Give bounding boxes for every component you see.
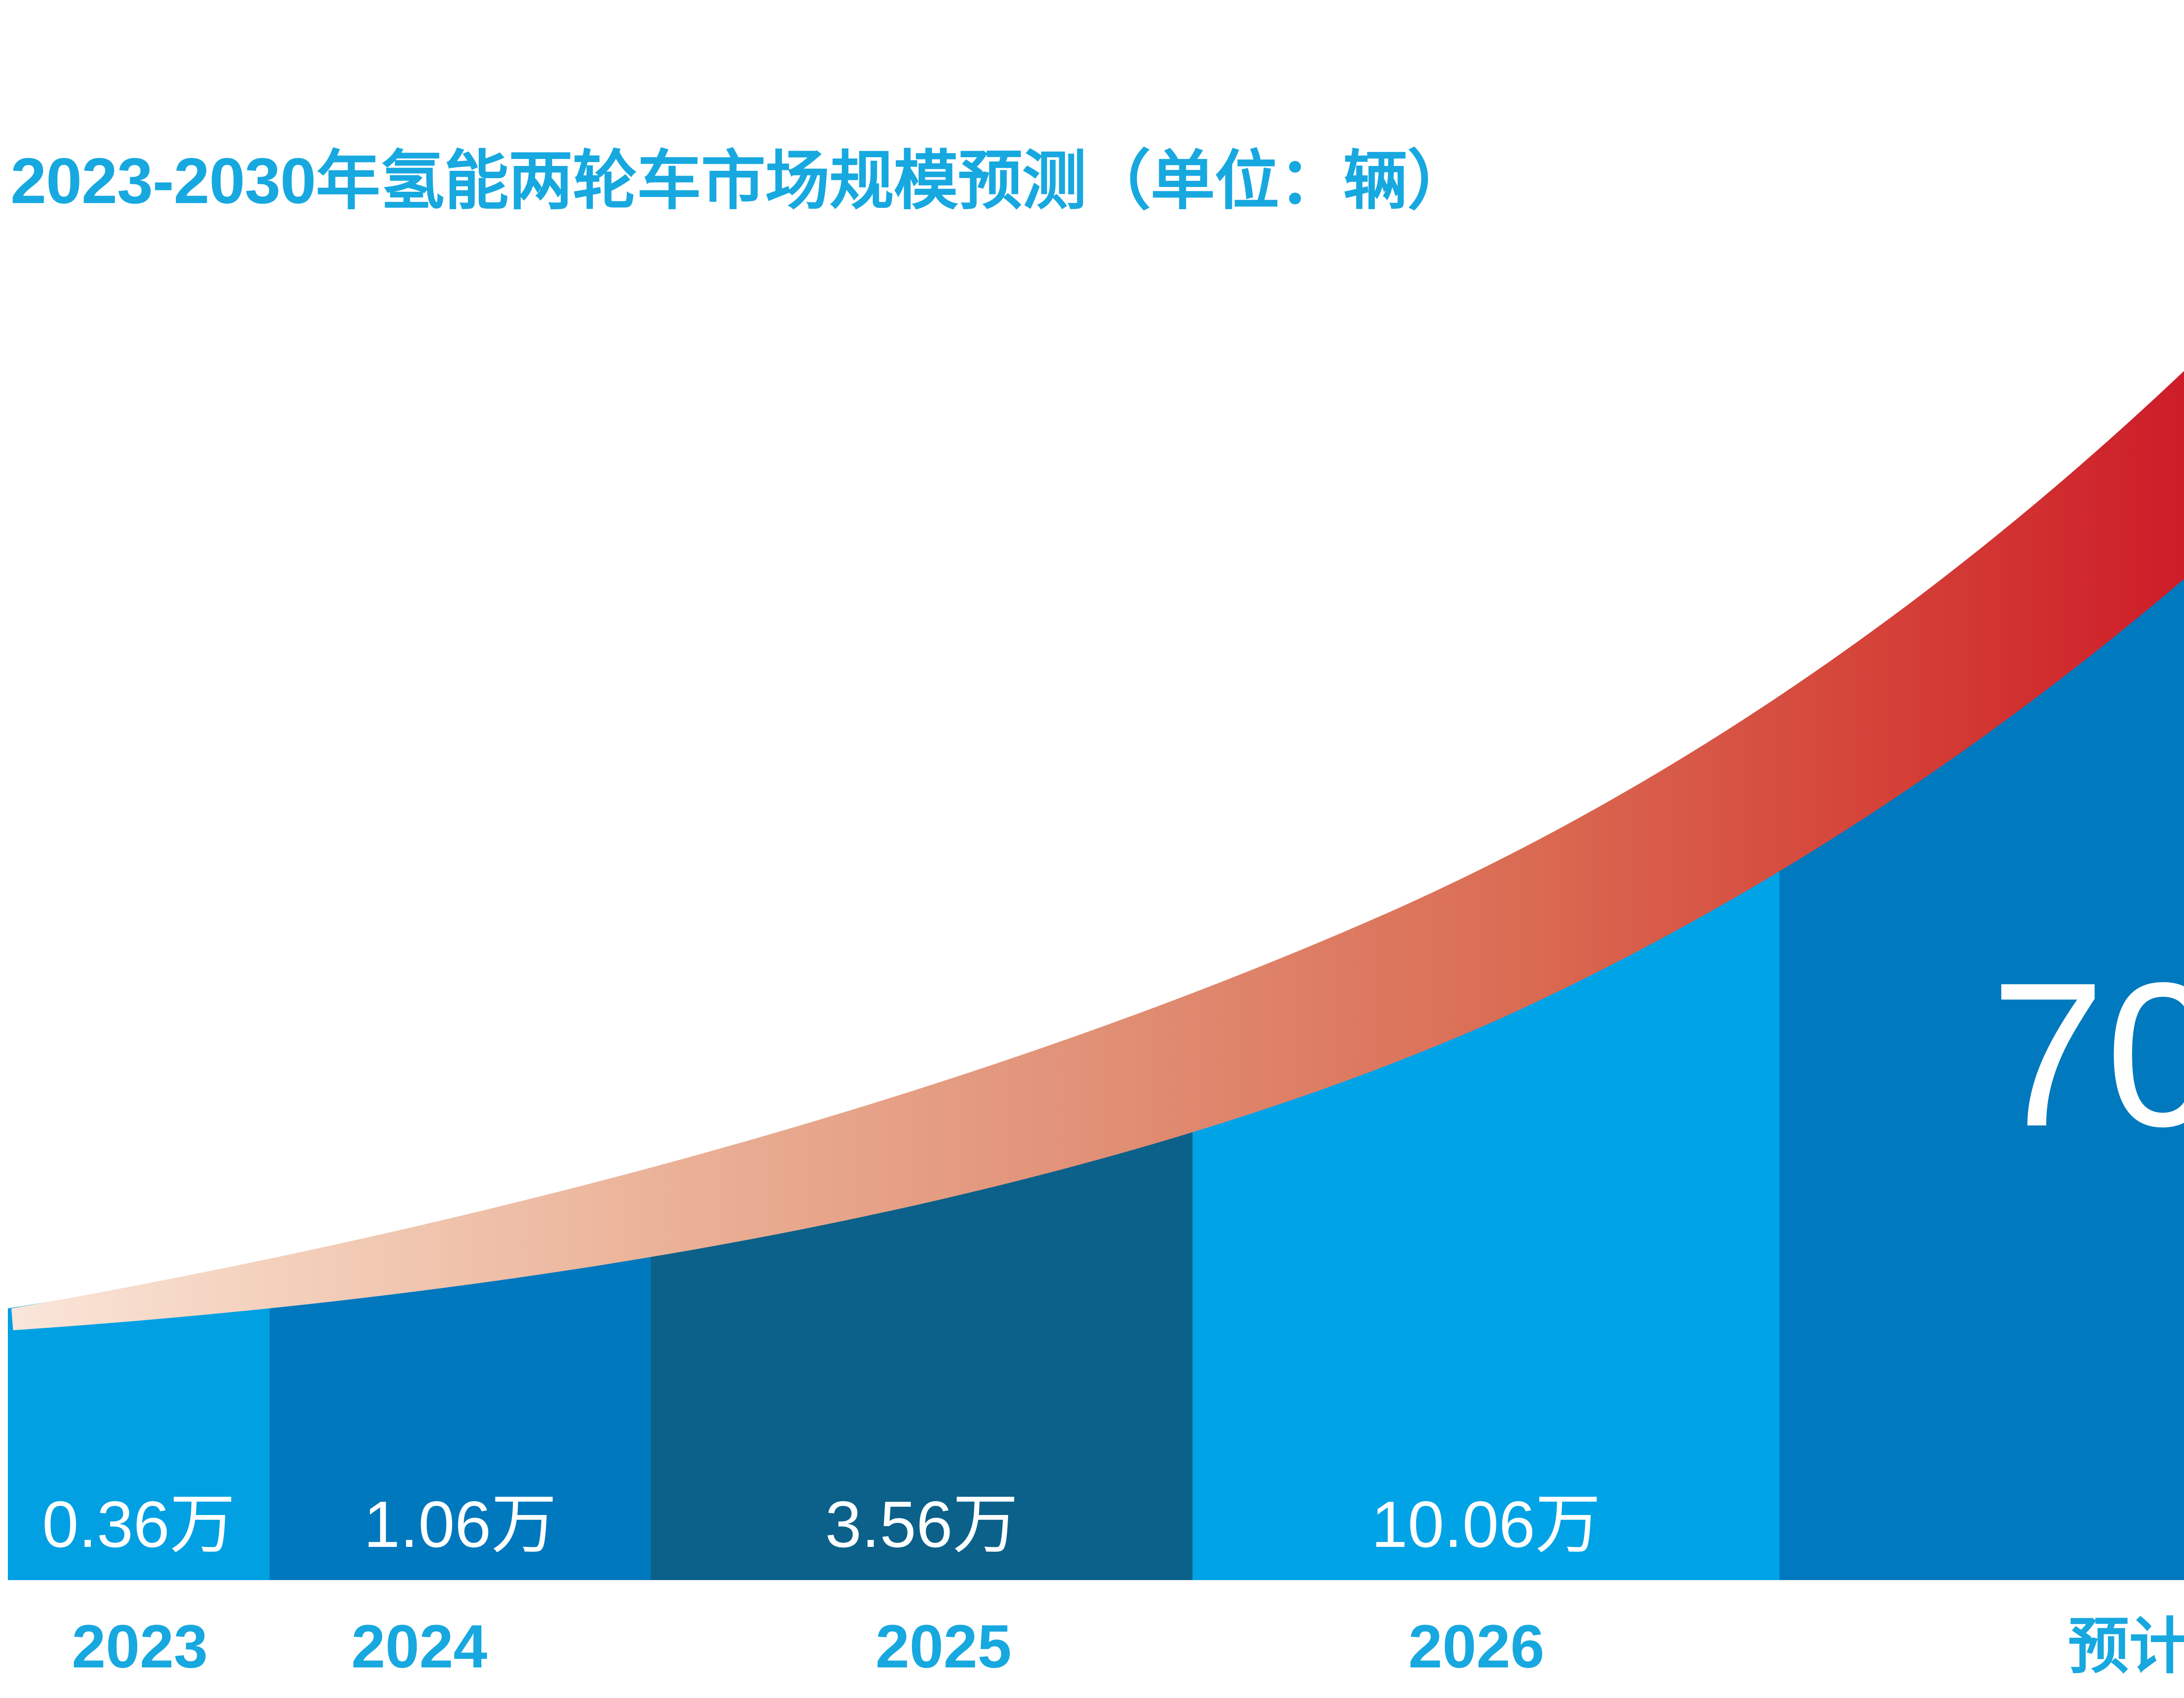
bar-value-label-2025: 3.56万 <box>651 1491 1192 1557</box>
bar-2026[interactable] <box>1192 823 1780 1580</box>
bars-svg <box>0 0 2184 1698</box>
bar-value-label-2023: 0.36万 <box>8 1491 270 1557</box>
x-axis-label-2030-forecast: 预计2030年增长 <box>1922 1616 2184 1677</box>
bar-value-label-2026: 10.06万 <box>1192 1491 1780 1557</box>
x-axis-label-2025: 2025 <box>804 1616 1083 1677</box>
bars-layer <box>0 0 2184 1698</box>
bar-value-label-2024: 1.06万 <box>270 1491 651 1557</box>
bar-2030-forecast[interactable] <box>1780 131 2184 1580</box>
x-axis-label-2026: 2026 <box>1337 1616 1616 1677</box>
x-axis-label-2023: 2023 <box>0 1616 306 1677</box>
bar-value-label-2030: 70万 <box>1780 952 2184 1157</box>
x-axis-label-2024: 2024 <box>280 1616 559 1677</box>
chart-canvas: 2023-2030年氢能两轮车市场规模预测（单位：辆） <box>0 0 2184 1698</box>
